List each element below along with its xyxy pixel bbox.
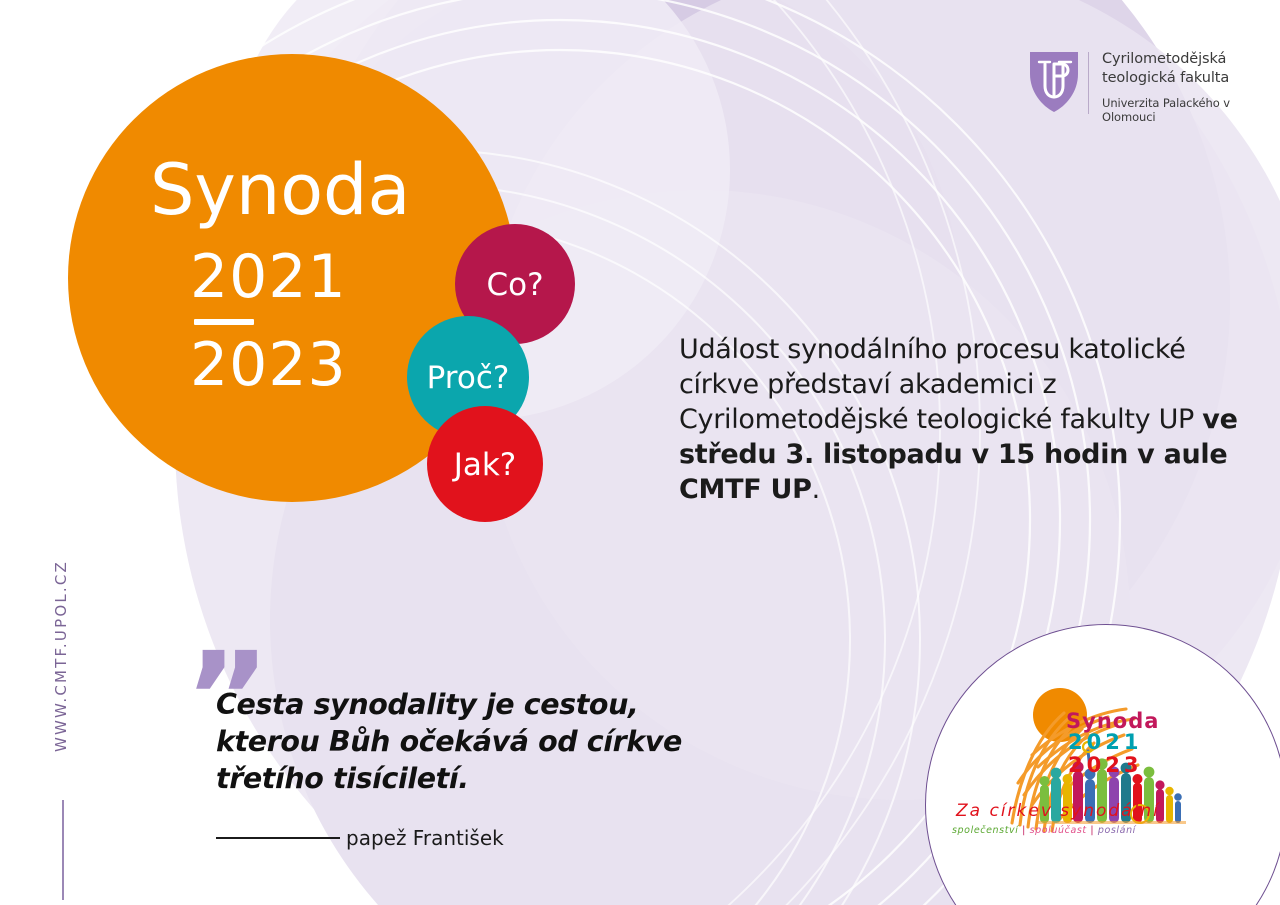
synod-subtagline: společenství | spoluúčast | poslání: [952, 825, 1136, 836]
event-description-part1: Událost synodálního procesu katolické cí…: [679, 334, 1202, 435]
event-description-part2: .: [812, 474, 820, 505]
logo-divider: [1088, 52, 1089, 114]
question-circle-proc-label: Proč?: [427, 360, 510, 396]
website-url[interactable]: WWW.CMTF.UPOL.CZ: [52, 560, 70, 752]
title-dash: [194, 319, 254, 325]
university-logo: Cyrilometodějská teologická fakulta Univ…: [1028, 48, 1280, 125]
quote-text: Cesta synodality je cestou, kterou Bůh o…: [216, 686, 686, 797]
university-logo-text: Cyrilometodějská teologická fakulta Univ…: [1102, 48, 1280, 125]
synod-sub-2: spoluúčast: [1030, 825, 1087, 836]
question-circle-co-label: Co?: [486, 267, 543, 303]
synod-word-2021: 2021: [1068, 730, 1142, 754]
synod-sub-sep-2: |: [1087, 825, 1098, 836]
up-shield-icon: [1028, 48, 1080, 114]
title-year-from: 2021: [190, 247, 480, 307]
question-circle-jak: Jak?: [427, 406, 543, 522]
question-circle-jak-label: Jak?: [454, 447, 517, 483]
synod-logo-artwork: [988, 673, 1238, 888]
attribution-name: papež František: [346, 826, 504, 850]
synod-word-2023: 2023: [1068, 753, 1142, 777]
synod-tagline: Za církev synodální: [956, 801, 1160, 821]
title-synoda: Synoda: [150, 155, 480, 225]
synod-sub-3: poslání: [1098, 825, 1136, 836]
synod-sub-sep-1: |: [1019, 825, 1030, 836]
website-rule: [62, 800, 64, 900]
quote-attribution: papež František: [216, 826, 686, 850]
university-name: Univerzita Palackého v Olomouci: [1102, 96, 1280, 125]
attribution-rule: [216, 837, 340, 839]
event-description: Událost synodálního procesu katolické cí…: [679, 332, 1239, 507]
poster-canvas: Synoda 2021 2023 Co? Proč? Jak? Událost …: [0, 0, 1280, 905]
faculty-name: Cyrilometodějská teologická fakulta: [1102, 50, 1280, 87]
synod-sub-1: společenství: [952, 825, 1019, 836]
